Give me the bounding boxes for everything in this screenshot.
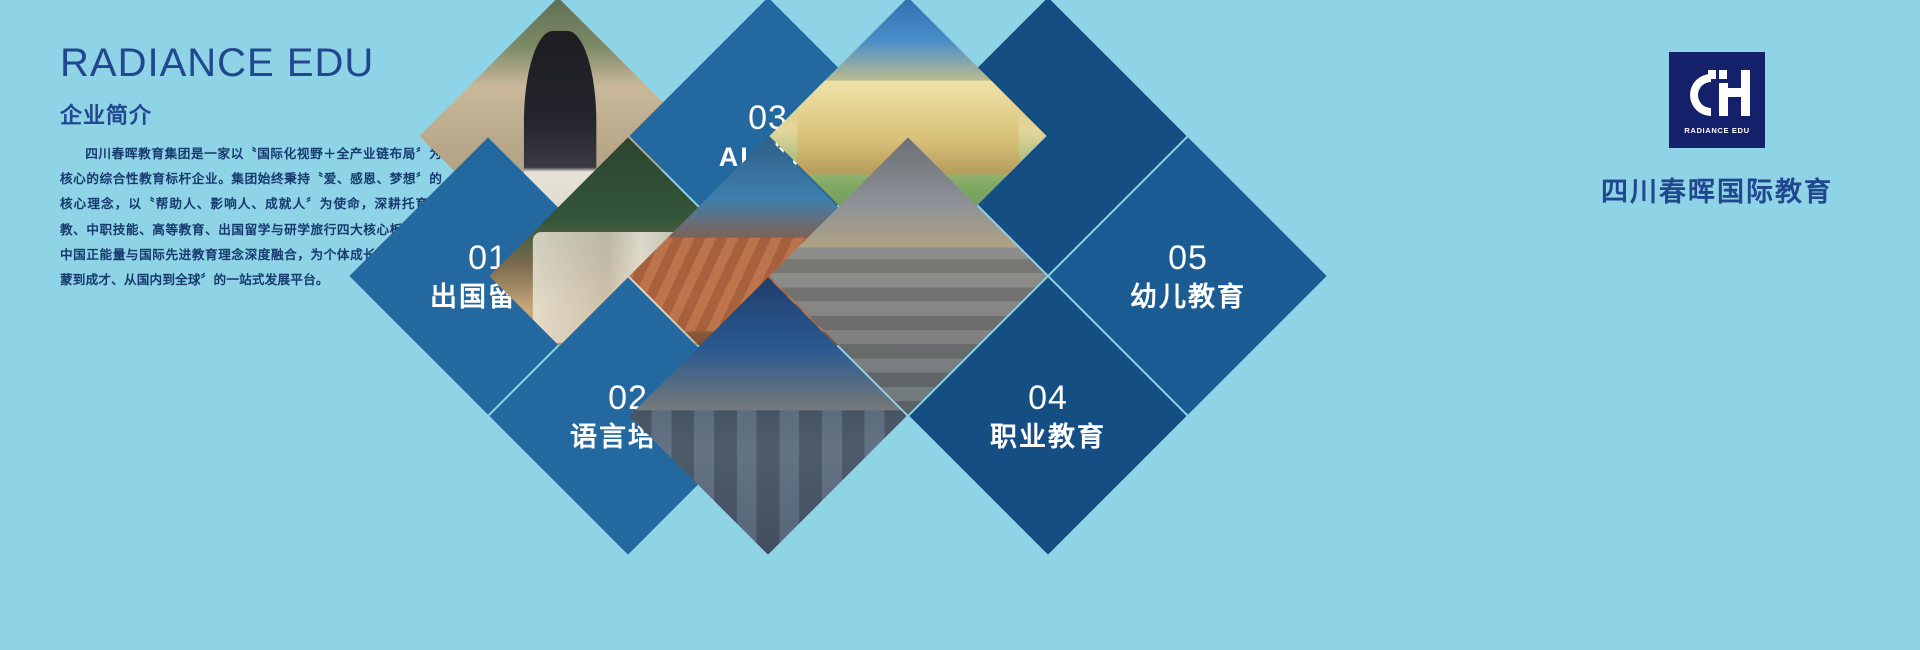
ch-monogram-icon bbox=[1681, 66, 1753, 124]
brand-logo-block: RADIANCE EDU 四川春晖国际教育 bbox=[1572, 52, 1862, 209]
tile-04-number: 04 bbox=[1028, 377, 1068, 420]
logo-square: RADIANCE EDU bbox=[1669, 52, 1765, 148]
logo-caption: RADIANCE EDU bbox=[1684, 126, 1749, 135]
tile-05-number: 05 bbox=[1168, 237, 1208, 280]
tile-04-label: 职业教育 bbox=[990, 419, 1106, 455]
diamond-mosaic: 01 出国留学 02 语言培训 03 AI 教育 04 bbox=[330, 0, 1330, 650]
company-name-cn: 四川春晖国际教育 bbox=[1601, 170, 1833, 209]
tile-05-label: 幼儿教育 bbox=[1130, 279, 1246, 315]
